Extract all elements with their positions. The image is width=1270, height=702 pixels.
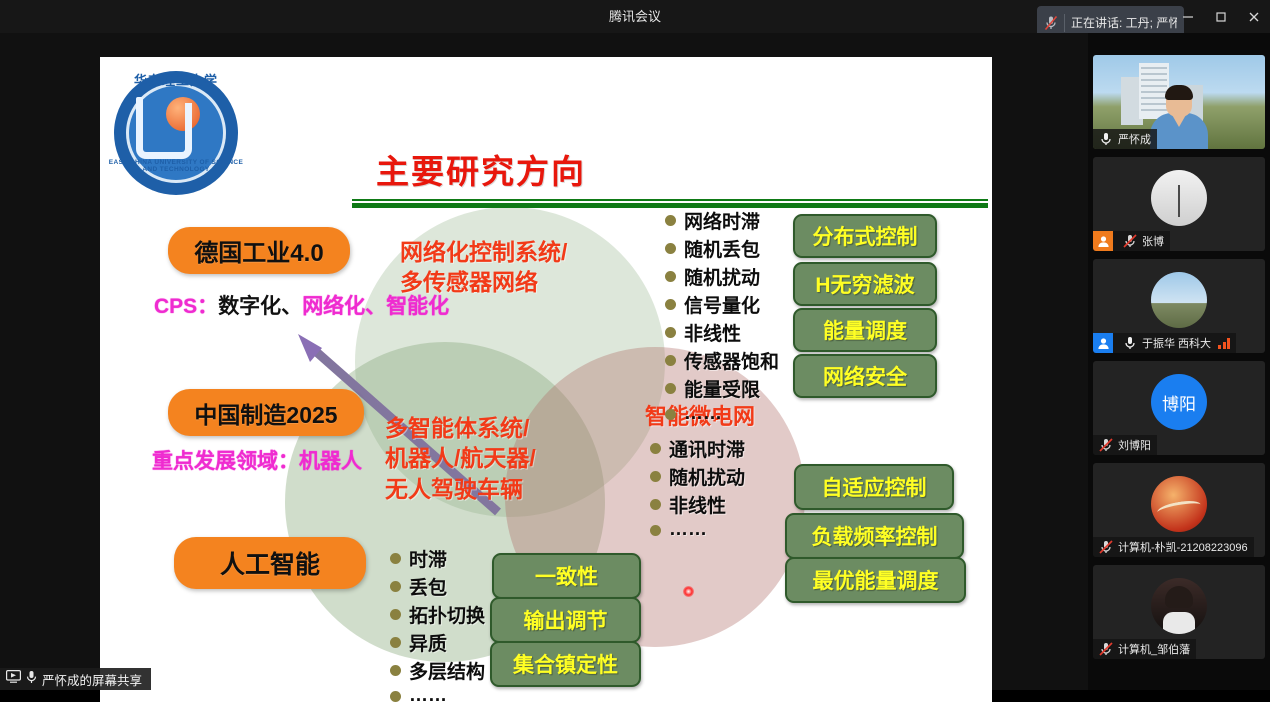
shared-screen-stage[interactable]: 华东理工大学 EAST CHINA UNIVERSITY OF SCIENCE … — [0, 33, 1088, 690]
speaking-label: 正在讲话: 工丹; 严怀成 — [1071, 14, 1177, 31]
signal-strength-icon — [1218, 337, 1230, 349]
list-item: 通讯时滞 — [650, 435, 745, 462]
microphone-icon — [26, 670, 37, 689]
bullet-dot-icon — [390, 581, 401, 592]
slide-title: 主要研究方向 — [376, 145, 586, 193]
cps-part-digital: 数字化、 — [218, 295, 302, 318]
green-box-load-frequency-control: 负载频率控制 — [785, 513, 964, 559]
avatar — [1151, 578, 1207, 634]
bullet-text: 非线性 — [669, 491, 726, 518]
participant-name: 于振华 西科大 — [1142, 335, 1211, 351]
bullet-dot-icon — [665, 327, 676, 338]
green-box-network-security: 网络安全 — [793, 354, 937, 398]
green-box-optimal-energy-scheduling: 最优能量调度 — [785, 557, 966, 603]
list-item: 随机丢包 — [665, 235, 779, 262]
focus-area-caption: 重点发展领域：机器人 — [152, 445, 362, 475]
participant-name: 刘博阳 — [1118, 437, 1151, 453]
bullet-text: 拓扑切换 — [409, 601, 485, 628]
microphone-muted-icon — [1098, 437, 1114, 453]
participant-tile-zhangbo[interactable]: 张博 — [1093, 157, 1265, 251]
participant-name: 计算机-朴凯-21208223096 — [1118, 539, 1248, 555]
list-item: 多层结构 — [390, 657, 485, 684]
list-item: 传感器饱和 — [665, 347, 779, 374]
bullet-text: 多层结构 — [409, 657, 485, 684]
pill-artificial-intelligence: 人工智能 — [174, 537, 366, 589]
participant-tile-yanhuaicheng[interactable]: 严怀成 — [1093, 55, 1265, 149]
host-badge-icon — [1093, 231, 1113, 251]
bullet-dot-icon — [665, 215, 676, 226]
green-box-distributed-control: 分布式控制 — [793, 214, 937, 258]
presentation-slide: 华东理工大学 EAST CHINA UNIVERSITY OF SCIENCE … — [100, 57, 992, 702]
logo-letter-n — [136, 103, 192, 159]
bullet-list-networked: 网络时滞 随机丢包 随机扰动 信号量化 非线性 传感器饱和 能量受限 …… — [665, 207, 779, 426]
bullet-dot-icon — [390, 691, 401, 702]
bullet-dot-icon — [390, 553, 401, 564]
list-item: 随机扰动 — [665, 263, 779, 290]
pill-industry-4-0: 德国工业4.0 — [168, 227, 350, 274]
list-item: 信号量化 — [665, 291, 779, 318]
list-item: 非线性 — [665, 319, 779, 346]
participant-label: 于振华 西科大 — [1093, 333, 1236, 353]
participant-tile-piaokai[interactable]: 计算机-朴凯-21208223096 — [1093, 463, 1265, 557]
participant-name: 张博 — [1142, 233, 1164, 249]
list-item: 时滞 — [390, 545, 485, 572]
microphone-muted-icon — [1044, 15, 1058, 31]
bullet-text: 随机扰动 — [684, 263, 760, 290]
bullet-text: 传感器饱和 — [684, 347, 779, 374]
bullet-dot-icon — [665, 299, 676, 310]
microphone-icon — [1122, 335, 1138, 351]
screen-sharing-status-bar: 严怀成的屏幕共享 — [0, 668, 151, 690]
bullet-dot-icon — [390, 665, 401, 676]
bullet-text: 能量受限 — [684, 375, 760, 402]
bullet-text: …… — [409, 685, 447, 702]
list-item: 非线性 — [650, 491, 745, 518]
list-item: …… — [390, 685, 485, 702]
participant-tile-liuboyang[interactable]: 博阳 刘博阳 — [1093, 361, 1265, 455]
chip-divider — [1064, 14, 1065, 32]
avatar — [1151, 272, 1207, 328]
bullet-dot-icon — [665, 383, 676, 394]
participant-label: 严怀成 — [1093, 129, 1157, 149]
microphone-muted-icon — [1098, 539, 1114, 555]
microphone-muted-icon — [1122, 233, 1138, 249]
list-item: 网络时滞 — [665, 207, 779, 234]
user-badge-icon — [1093, 333, 1113, 353]
green-box-set-stabilization: 集合镇定性 — [490, 641, 641, 687]
bullet-dot-icon — [390, 637, 401, 648]
bullet-dot-icon — [665, 355, 676, 366]
list-item: 丢包 — [390, 573, 485, 600]
bullet-text: 随机丢包 — [684, 235, 760, 262]
bullet-dot-icon — [650, 443, 661, 454]
bullet-text: 异质 — [409, 629, 447, 656]
cps-part-intelligent: 智能化 — [386, 295, 449, 318]
list-item: 能量受限 — [665, 375, 779, 402]
bullet-dot-icon — [650, 525, 661, 536]
participant-label: 计算机_邹伯藩 — [1093, 639, 1196, 659]
list-item: 随机扰动 — [650, 463, 745, 490]
green-box-h-infinity-filtering: H无穷滤波 — [793, 262, 937, 306]
bullet-text: 时滞 — [409, 545, 447, 572]
bullet-dot-icon — [665, 409, 676, 420]
bullet-dot-icon — [650, 499, 661, 510]
university-logo: 华东理工大学 EAST CHINA UNIVERSITY OF SCIENCE … — [106, 63, 246, 203]
bullet-text: 丢包 — [409, 573, 447, 600]
microphone-muted-icon — [1098, 641, 1114, 657]
bullet-text: 非线性 — [684, 319, 741, 346]
pill-made-in-china-2025: 中国制造2025 — [168, 389, 364, 436]
green-box-energy-scheduling: 能量调度 — [793, 308, 937, 352]
avatar — [1151, 476, 1207, 532]
cps-part-networked: 网络化、 — [302, 295, 386, 318]
close-icon[interactable] — [1237, 0, 1270, 33]
bullet-list-multi-agent: 时滞 丢包 拓扑切换 异质 多层结构 …… — [390, 545, 485, 702]
heading-multi-agent: 多智能体系统/ 机器人/航天器/ 无人驾驶车辆 — [385, 413, 536, 504]
bullet-dot-icon — [650, 471, 661, 482]
list-item: 异质 — [390, 629, 485, 656]
participant-tile-zoubofan[interactable]: 计算机_邹伯藩 — [1093, 565, 1265, 659]
avatar — [1151, 170, 1207, 226]
screen-share-icon — [6, 670, 21, 688]
logo-english-name: EAST CHINA UNIVERSITY OF SCIENCE AND TEC… — [108, 159, 244, 173]
green-box-consensus: 一致性 — [492, 553, 641, 599]
participant-tile-yuzhenhua[interactable]: 于振华 西科大 — [1093, 259, 1265, 353]
logo-chinese-name: 华东理工大学 — [120, 70, 232, 110]
participant-label: 计算机-朴凯-21208223096 — [1093, 537, 1254, 557]
participant-name: 计算机_邹伯藩 — [1118, 641, 1190, 657]
minimize-icon[interactable] — [1171, 0, 1204, 33]
participant-rail[interactable]: 严怀成 — [1088, 33, 1270, 690]
bullet-text: 通讯时滞 — [669, 435, 745, 462]
person-hair — [1165, 85, 1193, 100]
sharing-status-text: 严怀成的屏幕共享 — [42, 670, 142, 689]
laser-pointer-dot — [683, 586, 694, 597]
avatar: 博阳 — [1151, 374, 1207, 430]
green-box-output-regulation: 输出调节 — [490, 597, 641, 643]
list-item: …… — [665, 403, 779, 425]
bullet-text: 随机扰动 — [669, 463, 745, 490]
bullet-dot-icon — [665, 271, 676, 282]
bullet-text: …… — [684, 403, 722, 425]
microphone-icon — [1098, 131, 1114, 147]
heading-networked-control: 网络化控制系统/ 多传感器网络 — [400, 237, 567, 298]
bullet-text: …… — [669, 519, 707, 541]
list-item: 拓扑切换 — [390, 601, 485, 628]
window-controls — [1171, 0, 1270, 33]
participant-name: 严怀成 — [1118, 131, 1151, 147]
bullet-list-microgrid: 通讯时滞 随机扰动 非线性 …… — [650, 435, 745, 542]
bullet-text: 信号量化 — [684, 291, 760, 318]
tencent-meeting-window: 腾讯会议 正在讲话: 工丹; 严怀成 — [0, 0, 1270, 690]
bullet-dot-icon — [665, 243, 676, 254]
green-box-adaptive-control: 自适应控制 — [794, 464, 954, 510]
rule-line-thin — [352, 199, 988, 201]
maximize-icon[interactable] — [1204, 0, 1237, 33]
list-item: …… — [650, 519, 745, 541]
participant-label: 刘博阳 — [1093, 435, 1157, 455]
participant-label: 张博 — [1093, 231, 1170, 251]
bullet-text: 网络时滞 — [684, 207, 760, 234]
bullet-dot-icon — [390, 609, 401, 620]
title-bar: 腾讯会议 正在讲话: 工丹; 严怀成 — [0, 0, 1270, 33]
cps-prefix: CPS： — [154, 295, 218, 318]
